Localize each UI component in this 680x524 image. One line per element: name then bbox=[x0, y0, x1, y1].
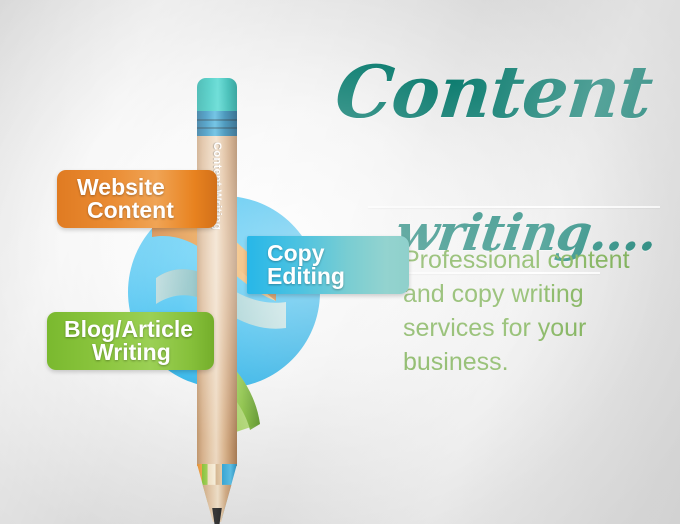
body-paragraph: Professional content and copy writing se… bbox=[403, 243, 665, 379]
headline-block: Content writing.... bbox=[330, 58, 670, 228]
badge-website-content[interactable]: Website Content bbox=[57, 170, 217, 228]
badge-website-content-line2: Content bbox=[77, 199, 217, 222]
pencil-graphite-tip bbox=[197, 508, 237, 524]
headline-line1: Content bbox=[332, 56, 655, 128]
badge-website-content-line1: Website bbox=[77, 176, 217, 199]
pencil-ferrule bbox=[197, 111, 237, 137]
badge-copy-editing[interactable]: Copy Editing bbox=[247, 236, 409, 294]
badge-blog-article-line1: Blog/Article bbox=[64, 318, 214, 341]
badge-blog-article-line2: Writing bbox=[64, 341, 214, 364]
badge-blog-article[interactable]: Blog/Article Writing bbox=[47, 312, 214, 370]
badge-copy-editing-line2: Editing bbox=[267, 265, 409, 288]
badge-copy-editing-line1: Copy bbox=[267, 242, 409, 265]
pencil-illustration: Content Writing bbox=[185, 78, 247, 480]
poster-canvas: Content Writing Website Content Copy Edi… bbox=[0, 0, 680, 524]
